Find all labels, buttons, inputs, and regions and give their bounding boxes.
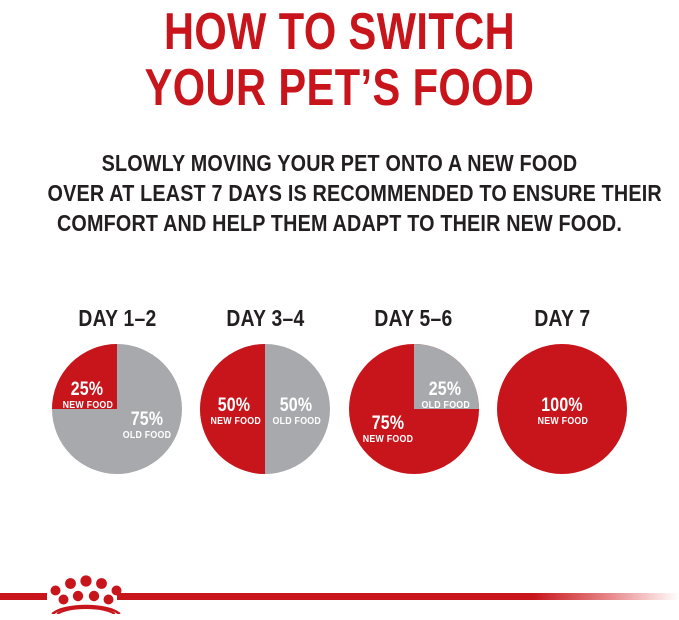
- pie-graphic-1: 25% NEW FOOD 75% OLD FOOD: [52, 344, 182, 474]
- pie-label-pct: 50%: [273, 396, 320, 415]
- footer: [0, 560, 679, 620]
- day-label-2: DAY 3–4: [226, 306, 304, 330]
- pie-graphic-2: 50% NEW FOOD 50% OLD FOOD: [200, 344, 330, 474]
- day-label-1: DAY 1–2: [78, 306, 156, 330]
- pie-graphic-3: 25% OLD FOOD 75% NEW FOOD: [349, 344, 479, 474]
- subtitle-line-3: COMFORT AND HELP THEM ADAPT TO THEIR NEW…: [48, 208, 632, 238]
- pie-graphic-4: 100% NEW FOOD: [497, 344, 627, 474]
- pie-chart-day-3-4: DAY 3–4 50% NEW FOOD 50% OLD FOOD: [194, 306, 336, 491]
- page-title: HOW TO SWITCH YOUR PET’S FOOD: [0, 4, 679, 116]
- pie-label-old-food-3: 25% OLD FOOD: [421, 380, 468, 411]
- subtitle-line-1: SLOWLY MOVING YOUR PET ONTO A NEW FOOD: [48, 148, 632, 178]
- day-label-4: DAY 7: [534, 306, 590, 330]
- pie-label-kind: NEW FOOD: [538, 416, 587, 427]
- pie-label-pct: 25%: [421, 380, 468, 399]
- title-line-1: HOW TO SWITCH: [68, 4, 611, 60]
- pie-label-new-food-1: 25% NEW FOOD: [63, 380, 112, 411]
- pie-label-new-food-4: 100% NEW FOOD: [538, 396, 587, 427]
- pie-label-pct: 75%: [123, 410, 172, 429]
- pie-label-kind: NEW FOOD: [63, 400, 112, 411]
- pie-label-old-food-2: 50% OLD FOOD: [273, 396, 320, 427]
- pie-label-pct: 75%: [362, 414, 414, 433]
- pie-label-new-food-2: 50% NEW FOOD: [211, 396, 258, 427]
- day-label-3: DAY 5–6: [375, 306, 453, 330]
- pie-label-kind: NEW FOOD: [362, 434, 414, 445]
- footer-bar-right: [117, 593, 679, 600]
- pie-label-pct: 100%: [538, 396, 587, 415]
- royal-canin-crown-icon: [45, 572, 127, 614]
- pie-chart-day-5-6: DAY 5–6 25% OLD FOOD 75% NEW FOOD: [343, 306, 485, 491]
- pie-label-kind: OLD FOOD: [123, 430, 172, 441]
- subtitle: SLOWLY MOVING YOUR PET ONTO A NEW FOOD O…: [0, 148, 679, 238]
- title-line-2: YOUR PET’S FOOD: [68, 60, 611, 116]
- pie-label-new-food-3: 75% NEW FOOD: [362, 414, 414, 445]
- infographic-root: HOW TO SWITCH YOUR PET’S FOOD SLOWLY MOV…: [0, 0, 679, 620]
- pie-label-kind: OLD FOOD: [421, 400, 468, 411]
- footer-bar-left: [0, 593, 47, 600]
- subtitle-line-2: OVER AT LEAST 7 DAYS IS RECOMMENDED TO E…: [48, 178, 632, 208]
- pie-label-pct: 25%: [63, 380, 112, 399]
- pie-chart-day-1-2: DAY 1–2 25% NEW FOOD 75% OLD FOOD: [46, 306, 188, 491]
- pie-chart-day-7: DAY 7 100% NEW FOOD: [491, 306, 633, 491]
- pie-label-kind: NEW FOOD: [211, 416, 258, 427]
- crown-svg: [45, 572, 127, 614]
- pie-chart-row: DAY 1–2 25% NEW FOOD 75% OLD FOOD DAY 3–…: [0, 306, 679, 491]
- pie-label-pct: 50%: [211, 396, 258, 415]
- pie-label-old-food-1: 75% OLD FOOD: [123, 410, 172, 441]
- pie-label-kind: OLD FOOD: [273, 416, 320, 427]
